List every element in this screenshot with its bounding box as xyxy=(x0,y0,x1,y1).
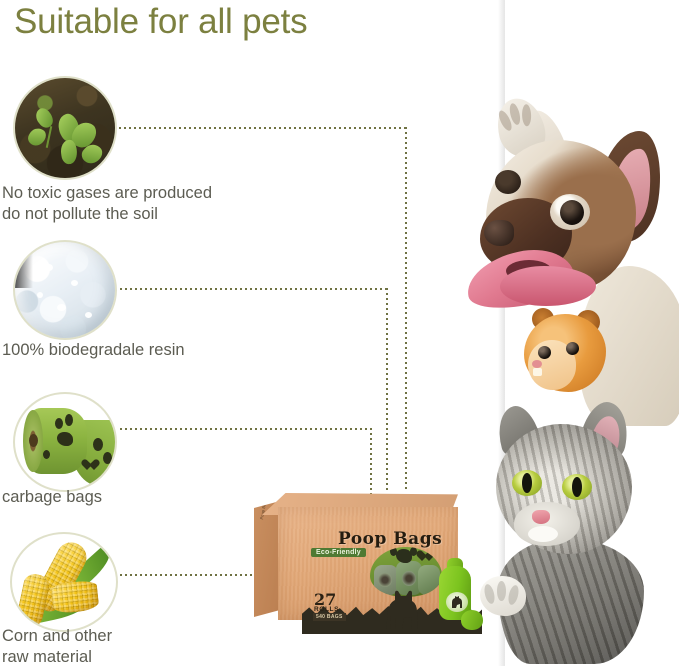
box-front-panel: Poop Bags Eco-Friendly 27 ROLLS 540 BAGS xyxy=(278,507,458,620)
connector-line-feature-4 xyxy=(120,574,258,576)
feature-label-biodegradable-resin: 100% biodegradale resin xyxy=(2,340,302,361)
connector-line-feature-3-vertical xyxy=(370,428,372,494)
connector-line-feature-2-vertical xyxy=(386,288,388,492)
box-side-panel: Poop Bags Biodegradable Eco-Friendly xyxy=(254,501,280,617)
eco-friendly-badge: Eco-Friendly xyxy=(311,548,366,557)
connector-line-feature-1 xyxy=(119,127,407,129)
box-bags-badge: 540 BAGS xyxy=(313,613,346,621)
connector-line-feature-2 xyxy=(120,288,388,290)
hamster-photo xyxy=(518,306,612,398)
kitten-paw xyxy=(480,576,526,616)
product-box: Poop Bags Biodegradable Eco-Friendly Poo… xyxy=(254,493,462,624)
connector-line-feature-1-vertical xyxy=(405,127,407,491)
feature-image-biodegradable-resin xyxy=(13,240,117,340)
box-roll-unit: ROLLS xyxy=(314,606,339,613)
feature-image-corn-raw-material xyxy=(10,532,118,632)
feature-image-garbage-bags xyxy=(13,392,117,492)
dog-silhouette-icon xyxy=(378,585,424,631)
tabby-kitten-photo xyxy=(470,398,679,666)
feature-image-no-toxic-gases xyxy=(13,76,117,180)
infographic-canvas: Suitable for all pets No toxic gases are… xyxy=(0,0,679,666)
box-title: Poop Bags xyxy=(338,529,442,549)
connector-line-feature-3 xyxy=(120,428,372,430)
dispenser-dog-icon xyxy=(450,596,464,608)
feature-label-no-toxic-gases: No toxic gases are produced do not pollu… xyxy=(2,183,302,224)
feature-label-corn-raw-material: Corn and other raw material xyxy=(2,626,302,666)
page-title: Suitable for all pets xyxy=(14,2,307,42)
